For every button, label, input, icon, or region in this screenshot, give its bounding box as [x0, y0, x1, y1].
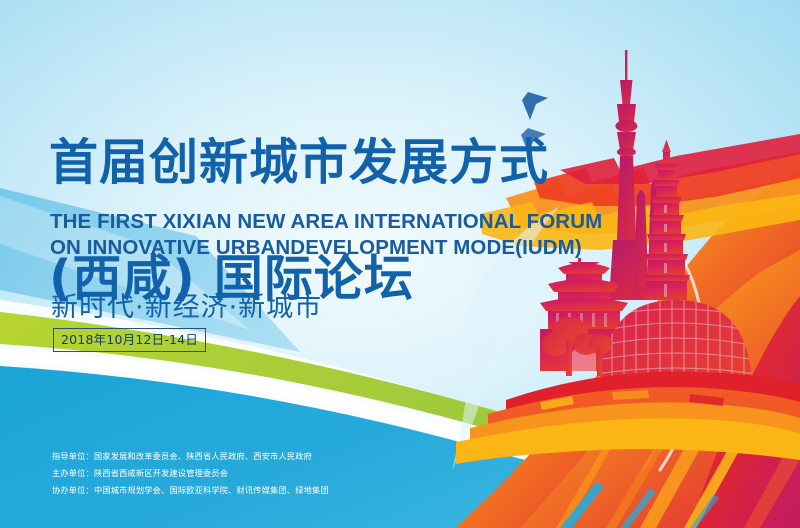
tagline: 新时代·新经济·新城市	[51, 285, 322, 324]
subtitle-english-line1: THE FIRST XIXIAN NEW AREA INTERNATIONAL …	[50, 209, 550, 235]
page-title-line1: 首届创新城市发展方式	[49, 134, 569, 192]
poster-text-content: 首届创新城市发展方式 (西咸) 国际论坛 THE FIRST XIXIAN NE…	[0, 0, 800, 528]
date-badge: 2018年10月12日-14日	[53, 328, 206, 352]
credit-line-host: 主办单位：陕西省西咸新区开发建设管理委员会	[52, 465, 329, 482]
credits-block: 指导单位：国家发展和改革委员会、陕西省人民政府、西安市人民政府 主办单位：陕西省…	[52, 448, 329, 498]
subtitle-english: THE FIRST XIXIAN NEW AREA INTERNATIONAL …	[50, 209, 550, 261]
credit-line-coorganizer: 协办单位：中国城市规划学会、国际欧亚科学院、财讯传媒集团、绿地集团	[52, 482, 329, 499]
credit-line-guidance: 指导单位：国家发展和改革委员会、陕西省人民政府、西安市人民政府	[52, 448, 329, 465]
poster-canvas: 首届创新城市发展方式 (西咸) 国际论坛 THE FIRST XIXIAN NE…	[0, 0, 800, 528]
subtitle-english-line2: ON INNOVATIVE URBANDEVELOPMENT MODE(IUDM…	[50, 235, 550, 261]
